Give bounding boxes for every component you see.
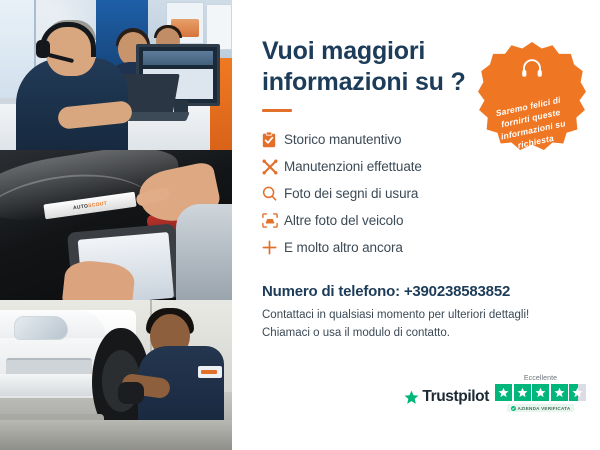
rating-star-partial <box>569 384 586 401</box>
trustpilot-star-icon <box>404 390 419 405</box>
tools-cross-icon <box>262 157 284 177</box>
verified-check-icon <box>511 406 516 411</box>
contact-line-1: Contattaci in qualsiasi momento per ulte… <box>262 307 578 325</box>
car-headlight <box>14 316 68 340</box>
call-center-agents-photo <box>0 0 232 150</box>
trustpilot-rating-label: Eccellente <box>524 375 557 382</box>
trustpilot-brand-label: Trustpilot <box>422 388 489 406</box>
ad-creative-root: AUTOSCOUT <box>0 0 600 450</box>
trustpilot-widget[interactable]: Trustpilot Eccellente <box>404 375 586 412</box>
mechanic-wheel-check-photo <box>0 300 232 450</box>
car-scan-icon <box>262 211 284 231</box>
content-panel: Vuoi maggiori informazioni su ? Saremo f… <box>232 0 600 450</box>
mechanic-glove <box>118 382 144 404</box>
clipboard-check-icon <box>262 130 284 150</box>
headset-icon <box>521 58 543 78</box>
feature-label: Altre foto del veicolo <box>284 213 403 228</box>
feature-label: Storico manutentivo <box>284 132 401 147</box>
feature-item-molto-altro: E molto altro ancora <box>262 234 578 261</box>
trustpilot-star-row <box>495 384 586 401</box>
verified-badge-label: AZIENDA VERIFICATA <box>518 406 571 411</box>
feature-label: Manutenzioni effettuate <box>284 159 422 174</box>
rating-star <box>514 384 531 401</box>
ruler-brand-label: AUTOSCOUT <box>73 200 108 211</box>
inspector-arm <box>176 204 232 300</box>
feature-item-manutenzioni-effettuate: Manutenzioni effettuate <box>262 153 578 180</box>
feature-item-altre-foto-veicolo: Altre foto del veicolo <box>262 207 578 234</box>
feature-label: Foto dei segni di usura <box>284 186 418 201</box>
feature-item-foto-segni-usura: Foto dei segni di usura <box>262 180 578 207</box>
trustpilot-logo: Trustpilot <box>404 388 489 412</box>
rating-star <box>495 384 512 401</box>
rating-star <box>551 384 568 401</box>
feature-label: E molto altro ancora <box>284 240 403 255</box>
mechanic-uniform-patch <box>198 366 222 378</box>
magnifier-icon <box>262 184 284 204</box>
contact-line-2: Chiamaci o usa il modulo di contatto. <box>262 325 578 343</box>
phone-number-line[interactable]: Numero di telefono: +390238583852 <box>262 283 578 300</box>
photo-collage-column: AUTOSCOUT <box>0 0 232 450</box>
verified-business-badge: AZIENDA VERIFICATA <box>507 404 575 412</box>
page-title: Vuoi maggiori informazioni su ? <box>262 36 472 97</box>
contact-instructions: Contattaci in qualsiasi momento per ulte… <box>262 307 578 343</box>
workshop-floor <box>0 420 232 450</box>
vehicle-inspection-ruler-photo: AUTOSCOUT <box>0 150 232 300</box>
plus-icon <box>262 238 284 258</box>
trustpilot-rating: Eccellente <box>495 375 586 412</box>
title-underline-rule <box>262 109 292 112</box>
callout-badge: Saremo felici di fornirti queste informa… <box>478 42 586 150</box>
rating-star <box>532 384 549 401</box>
